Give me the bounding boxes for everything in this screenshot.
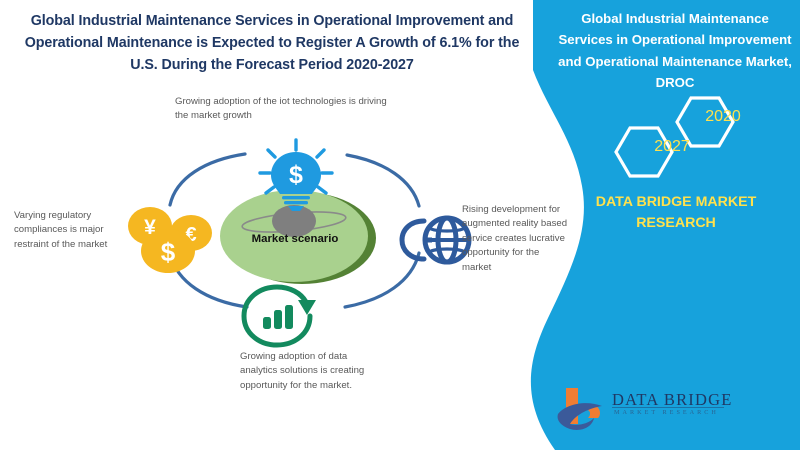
callout-top-driver: Growing adoption of the iot technologies… bbox=[175, 95, 389, 124]
coins-currency-icon: ¥ € $ bbox=[128, 207, 212, 273]
logo-sub-text: MARKET RESEARCH bbox=[614, 409, 719, 416]
logo-divider bbox=[612, 407, 724, 408]
callout-bottom-opportunity: Growing adoption of data analytics solut… bbox=[240, 350, 372, 393]
market-scenario-label: Market scenario bbox=[233, 233, 357, 245]
analytics-refresh-icon bbox=[244, 287, 316, 345]
page-title: Global Industrial Maintenance Services i… bbox=[18, 10, 526, 76]
globe-network-icon bbox=[402, 218, 469, 262]
hexagon-label-2027: 2027 bbox=[642, 138, 702, 156]
svg-text:$: $ bbox=[161, 237, 176, 267]
forecast-period-hexagons: 2020 2027 bbox=[600, 92, 790, 192]
data-bridge-logo: DATA BRIDGE MARKET RESEARCH bbox=[554, 382, 734, 434]
infographic-slide: Global Industrial Maintenance Services i… bbox=[0, 0, 800, 450]
svg-text:$: $ bbox=[289, 161, 303, 189]
panel-title: Global Industrial Maintenance Services i… bbox=[556, 8, 794, 94]
brand-name: DATA BRIDGE MARKET RESEARCH bbox=[566, 192, 786, 233]
callout-left-restraint: Varying regulatory compliances is major … bbox=[14, 209, 124, 252]
hexagon-label-2020: 2020 bbox=[693, 108, 753, 126]
logo-mark-icon bbox=[554, 384, 612, 434]
callout-right-opportunity: Rising development for augmented reality… bbox=[462, 203, 570, 275]
